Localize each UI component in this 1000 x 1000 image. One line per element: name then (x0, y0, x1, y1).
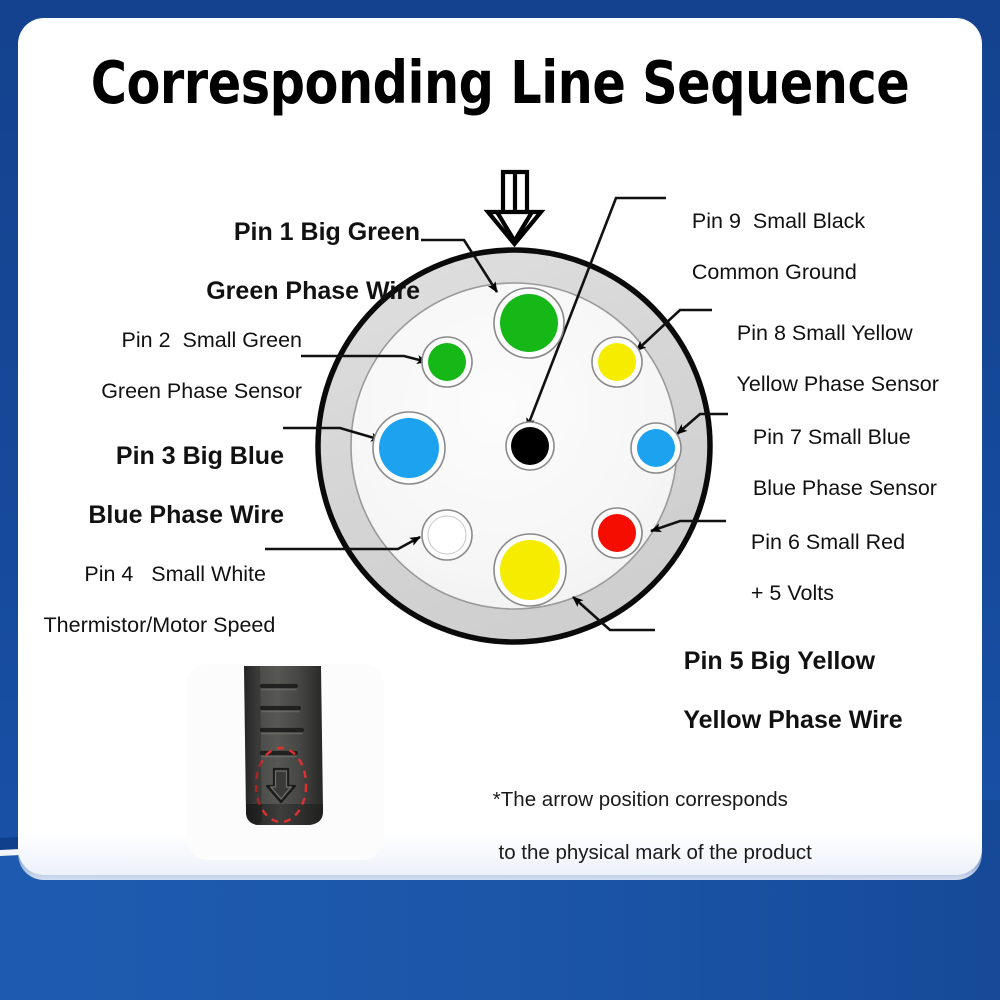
pin-9-label: Pin 9 Small Black Common Ground (668, 184, 948, 311)
pin-5-big-yellow[interactable] (494, 534, 566, 606)
pin-7-subtitle: Blue Phase Sensor (753, 476, 937, 500)
pin-8-label: Pin 8 Small Yellow Yellow Phase Sensor (713, 296, 981, 423)
connector-photo-inset (186, 664, 384, 860)
footnote-line-2: to the physical mark of the product (493, 841, 812, 864)
pin-7-small-blue[interactable] (631, 423, 681, 473)
pin-2-label: Pin 2 Small Green Green Phase Sensor (40, 303, 302, 430)
pin-2-small-green[interactable] (422, 337, 472, 387)
pin-5-title: Pin 5 Big Yellow (684, 647, 875, 675)
pin-9-title: Pin 9 Small Black (692, 209, 865, 233)
pin-3-subtitle: Blue Phase Wire (88, 501, 284, 529)
pin-9-small-black[interactable] (506, 422, 554, 470)
pin-5-label: Pin 5 Big Yellow Yellow Phase Wire (656, 617, 976, 765)
pin-1-title: Pin 1 Big Green (234, 218, 420, 246)
pin-6-title: Pin 6 Small Red (751, 530, 905, 554)
pin-4-label: Pin 4 Small White Thermistor/Motor Speed (20, 537, 266, 664)
pin-2-title: Pin 2 Small Green (122, 328, 302, 352)
footnote: *The arrow position corresponds to the p… (470, 760, 890, 893)
pin-4-small-white[interactable] (422, 510, 472, 560)
pin-8-title: Pin 8 Small Yellow (737, 321, 913, 345)
pin-4-title: Pin 4 Small White (84, 562, 266, 586)
pin-1-big-green[interactable] (494, 288, 564, 358)
pin-3-big-blue[interactable] (373, 412, 445, 484)
orientation-down-arrow-icon (488, 172, 541, 244)
pin-8-subtitle: Yellow Phase Sensor (737, 372, 939, 396)
pin-7-title: Pin 7 Small Blue (753, 425, 911, 449)
pin-3-title: Pin 3 Big Blue (116, 442, 284, 470)
poster: Corresponding Line Sequence (0, 0, 1000, 1000)
pin-4-subtitle: Thermistor/Motor Speed (44, 613, 276, 637)
pin-6-subtitle: + 5 Volts (751, 581, 834, 605)
pin-6-small-red[interactable] (592, 508, 642, 558)
footnote-line-1: *The arrow position corresponds (493, 788, 788, 811)
pin-5-subtitle: Yellow Phase Wire (683, 706, 902, 734)
pin-9-subtitle: Common Ground (692, 260, 857, 284)
pin-2-subtitle: Green Phase Sensor (101, 379, 302, 403)
connector-boot-illustration (186, 664, 384, 860)
pin-8-small-yellow[interactable] (592, 337, 642, 387)
pin-1-subtitle: Green Phase Wire (206, 277, 420, 305)
